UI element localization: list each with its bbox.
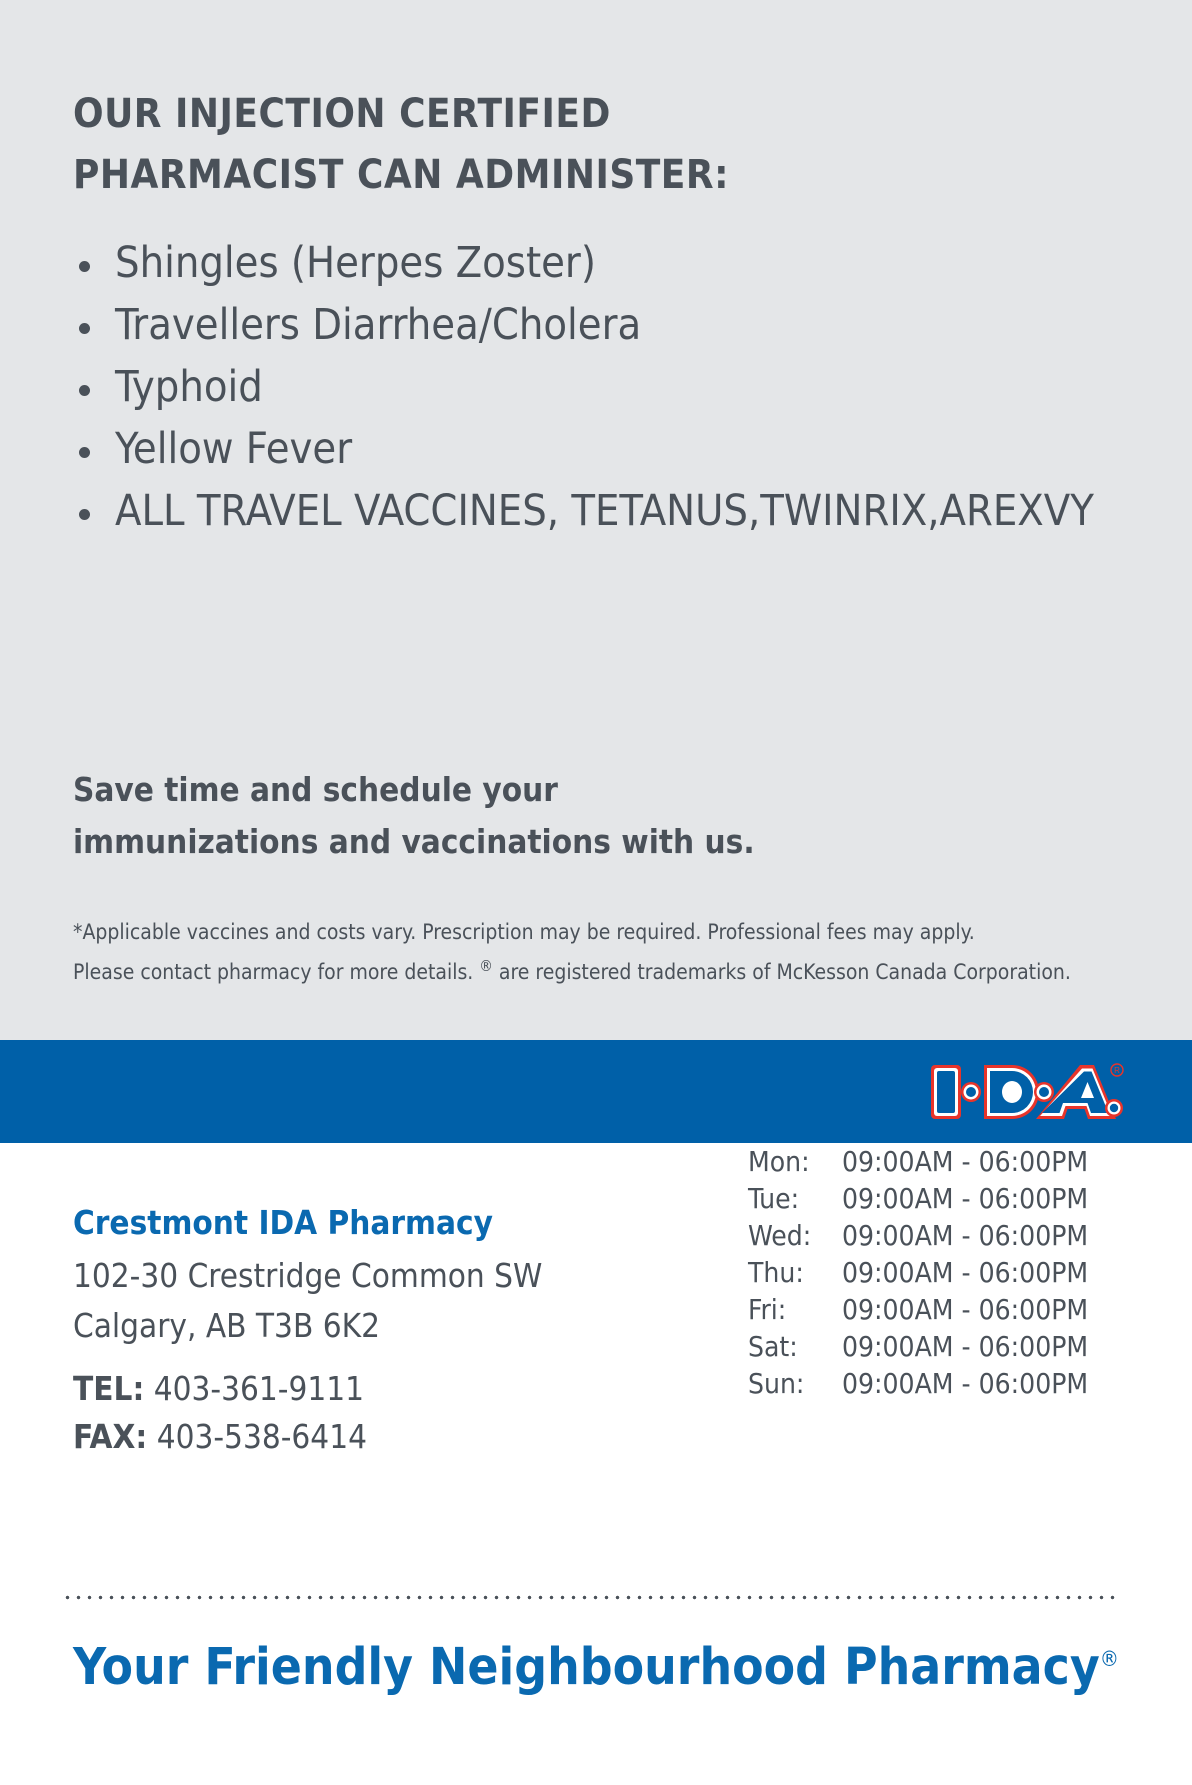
immunization-promo-panel: OUR INJECTION CERTIFIED PHARMACIST CAN A…: [0, 0, 1192, 1040]
hours-time-value: 09:00AM - 06:00PM: [842, 1365, 1088, 1402]
table-row: Fri: 09:00AM - 06:00PM: [748, 1291, 1088, 1328]
telephone-value[interactable]: 403-361-9111: [154, 1369, 364, 1408]
hours-time-value: 09:00AM - 06:00PM: [842, 1254, 1088, 1291]
hours-day-label: Sat:: [748, 1328, 842, 1365]
table-row: Thu: 09:00AM - 06:00PM: [748, 1254, 1088, 1291]
scheduling-callout: Save time and schedule your immunization…: [73, 764, 833, 868]
headline-line-2: PHARMACIST CAN ADMINISTER:: [73, 145, 973, 206]
hours-time-value: 09:00AM - 06:00PM: [842, 1328, 1088, 1365]
hours-day-label: Fri:: [748, 1291, 842, 1328]
address-line-1: 102-30 Crestridge Common SW: [73, 1251, 542, 1301]
ida-logo-letter-i: [931, 1065, 961, 1119]
telephone-row: TEL: 403-361-9111: [73, 1365, 367, 1413]
disclaimer-line-2-before: Please contact pharmacy for more details…: [73, 960, 479, 984]
store-address: 102-30 Crestridge Common SW Calgary, AB …: [73, 1251, 542, 1351]
ida-logo: R: [928, 1061, 1124, 1123]
ida-logo-registered-mark: R: [1111, 1064, 1123, 1076]
store-info-panel: Crestmont IDA Pharmacy 102-30 Crestridge…: [0, 1143, 1192, 1785]
disclaimer-text: *Applicable vaccines and costs vary. Pre…: [73, 915, 1113, 989]
ida-logo-dot-2: [1034, 1082, 1054, 1102]
svg-text:R: R: [1114, 1066, 1120, 1075]
hours-time-value: 09:00AM - 06:00PM: [842, 1180, 1088, 1217]
brand-tagline: Your Friendly Neighbourhood Pharmacy®: [73, 1628, 1119, 1700]
hours-day-label: Sun:: [748, 1365, 842, 1402]
ida-logo-letter-d: [984, 1065, 1039, 1119]
disclaimer-line-2-after: are registered trademarks of McKesson Ca…: [493, 960, 1071, 984]
hours-time-value: 09:00AM - 06:00PM: [842, 1143, 1088, 1180]
list-item: Travellers Diarrhea/Cholera: [73, 294, 1192, 356]
hours-day-label: Tue:: [748, 1180, 842, 1217]
hours-time-value: 09:00AM - 06:00PM: [842, 1291, 1088, 1328]
fax-row: FAX: 403-538-6414: [73, 1413, 367, 1461]
table-row: Mon: 09:00AM - 06:00PM: [748, 1143, 1088, 1180]
hours-day-label: Thu:: [748, 1254, 842, 1291]
scheduling-callout-line-1: Save time and schedule your: [73, 764, 833, 816]
ida-logo-dot-1: [961, 1082, 981, 1102]
table-row: Sat: 09:00AM - 06:00PM: [748, 1328, 1088, 1365]
hours-day-label: Wed:: [748, 1217, 842, 1254]
store-contact: TEL: 403-361-9111 FAX: 403-538-6414: [73, 1365, 367, 1461]
brand-tagline-text: Your Friendly Neighbourhood Pharmacy: [73, 1638, 1100, 1697]
fax-label: FAX:: [73, 1417, 147, 1456]
dotted-divider: [62, 1595, 1118, 1600]
list-item: Yellow Fever: [73, 418, 1192, 480]
table-row: Wed: 09:00AM - 06:00PM: [748, 1217, 1088, 1254]
disclaimer-line-2: Please contact pharmacy for more details…: [73, 949, 1113, 989]
headline-line-1: OUR INJECTION CERTIFIED: [73, 84, 973, 145]
fax-value: 403-538-6414: [157, 1417, 367, 1456]
vaccine-list: Shingles (Herpes Zoster) Travellers Diar…: [73, 232, 1192, 542]
table-row: Tue: 09:00AM - 06:00PM: [748, 1180, 1088, 1217]
pharmacy-flyer: OUR INJECTION CERTIFIED PHARMACIST CAN A…: [0, 0, 1192, 1785]
registered-trademark-icon: ®: [1100, 1647, 1119, 1672]
disclaimer-line-1: *Applicable vaccines and costs vary. Pre…: [73, 915, 1113, 949]
list-item: Typhoid: [73, 356, 1192, 418]
telephone-label: TEL:: [73, 1369, 144, 1408]
hours-time-value: 09:00AM - 06:00PM: [842, 1217, 1088, 1254]
brand-banner: R: [0, 1040, 1192, 1143]
list-item: Shingles (Herpes Zoster): [73, 232, 1192, 294]
page-title: OUR INJECTION CERTIFIED PHARMACIST CAN A…: [73, 84, 973, 206]
store-hours-table: Mon: 09:00AM - 06:00PM Tue: 09:00AM - 06…: [748, 1143, 1088, 1402]
scheduling-callout-line-2: immunizations and vaccinations with us.: [73, 816, 833, 868]
address-line-2: Calgary, AB T3B 6K2: [73, 1301, 542, 1351]
ida-logo-dot-3: [1105, 1099, 1123, 1117]
list-item: ALL TRAVEL VACCINES, TETANUS,TWINRIX,ARE…: [73, 480, 1192, 542]
store-name: Crestmont IDA Pharmacy: [73, 1203, 493, 1243]
hours-day-label: Mon:: [748, 1143, 842, 1180]
table-row: Sun: 09:00AM - 06:00PM: [748, 1365, 1088, 1402]
registered-trademark-icon: ®: [479, 957, 493, 975]
